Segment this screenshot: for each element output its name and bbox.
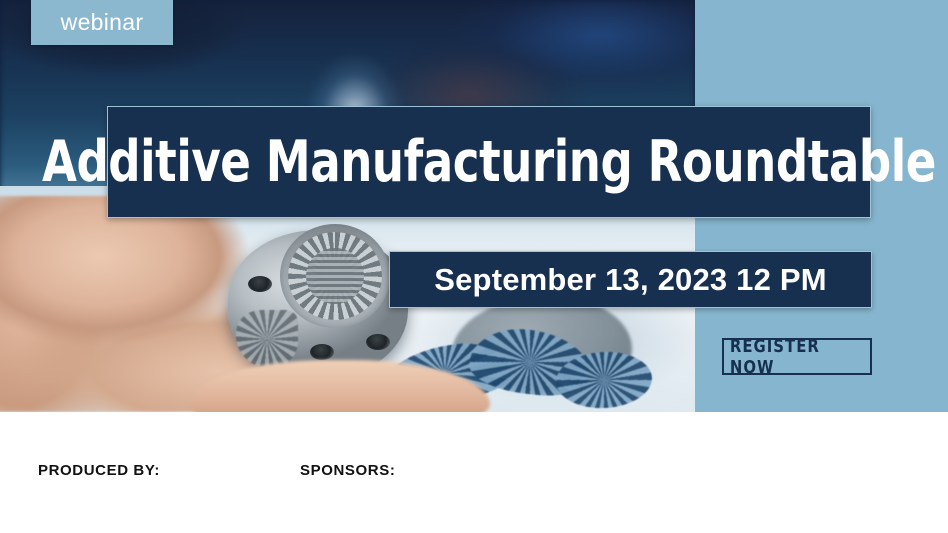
webinar-promo-banner: webinar Additive Manufacturing Roundtabl… xyxy=(0,0,948,533)
register-now-button[interactable]: REGISTER NOW xyxy=(722,338,872,375)
part-bolt-hole xyxy=(248,276,272,292)
register-now-label: REGISTER NOW xyxy=(730,336,864,378)
webinar-badge-label: webinar xyxy=(61,9,144,36)
hero-section: webinar Additive Manufacturing Roundtabl… xyxy=(0,0,948,412)
sponsors-label: SPONSORS: xyxy=(300,462,395,479)
date-block: September 13, 2023 12 PM xyxy=(389,251,872,308)
footer-section: PRODUCED BY: Aerospace Manufacturing & D… xyxy=(0,412,948,533)
part-bolt-hole xyxy=(310,344,334,360)
webinar-badge: webinar xyxy=(31,0,173,45)
produced-by-label: PRODUCED BY: xyxy=(38,462,160,479)
event-datetime: September 13, 2023 12 PM xyxy=(434,262,827,298)
part-bolt-hole xyxy=(366,334,390,350)
title-block: Additive Manufacturing Roundtable xyxy=(107,106,871,218)
page-title: Additive Manufacturing Roundtable xyxy=(42,129,936,195)
part-core xyxy=(306,248,364,304)
part-knurled-edge xyxy=(236,310,298,368)
